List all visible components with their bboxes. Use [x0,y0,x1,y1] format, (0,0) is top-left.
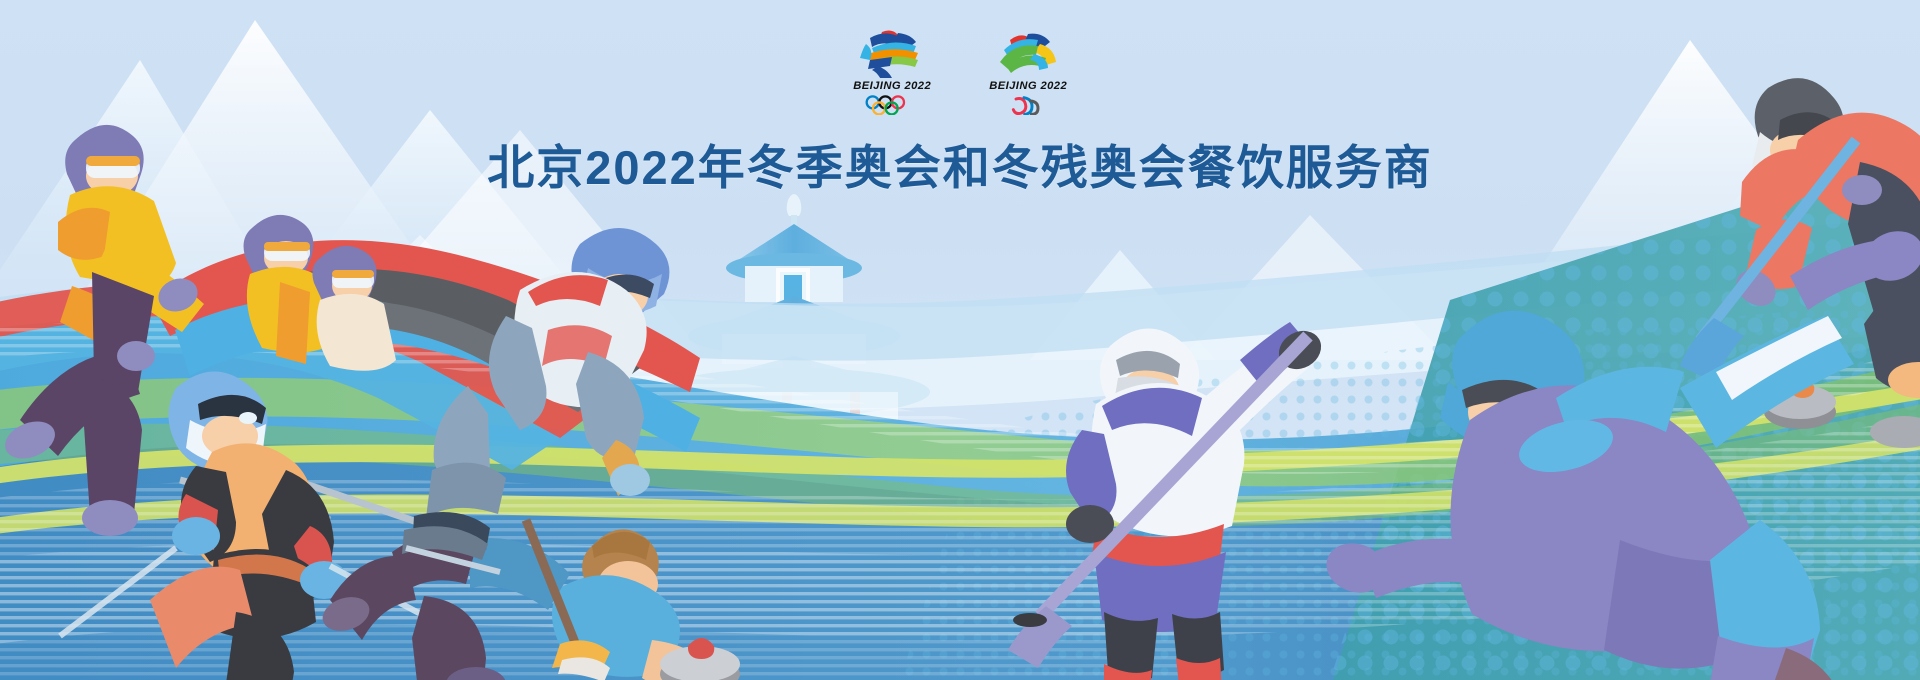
banner-artwork [0,0,1920,680]
olympic-banner: BEIJING 2022 [0,0,1920,680]
